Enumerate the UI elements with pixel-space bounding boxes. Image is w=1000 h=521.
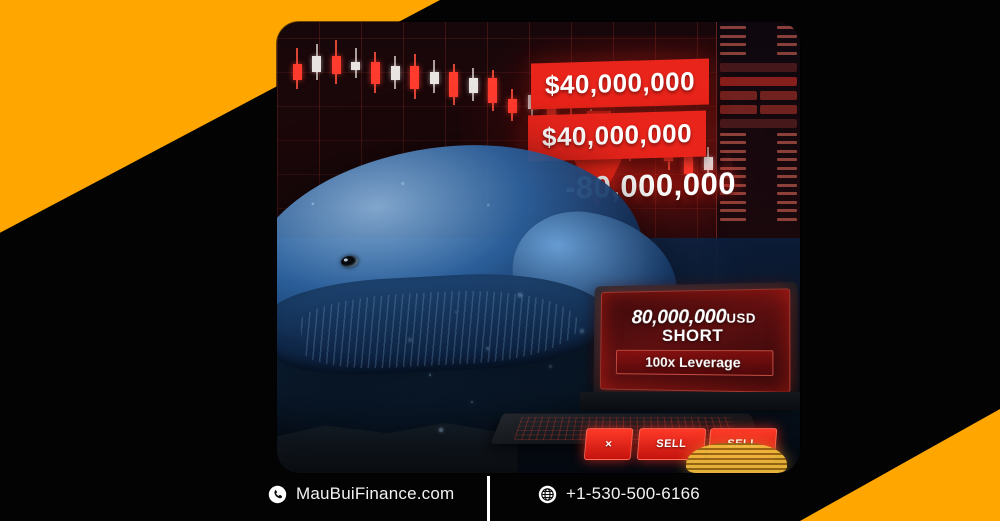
sea-floor-rocks <box>277 412 518 473</box>
leverage-badge: 100x Leverage <box>616 349 774 375</box>
callout-amount-1: $40,000,000 <box>531 58 709 109</box>
close-position-button[interactable]: ✕ <box>584 428 634 460</box>
terminal-screen: 80,000,000USD SHORT 100x Leverage <box>600 288 791 393</box>
hero-image-inner: $40,000,000 $40,000,000 -80,000,000 <box>277 22 800 473</box>
monitor-stand <box>580 392 800 411</box>
website-text: MauBuiFinance.com <box>296 484 454 504</box>
globe-icon <box>538 485 557 504</box>
trading-desk: 80,000,000USD SHORT 100x Leverage ✕ SELL… <box>580 284 800 473</box>
gold-coin-stack <box>686 443 787 473</box>
website-contact[interactable]: MauBuiFinance.com <box>268 484 454 504</box>
poster-canvas: $40,000,000 $40,000,000 -80,000,000 <box>0 0 1000 521</box>
contact-footer: MauBuiFinance.com +1-530-500-6166 <box>0 473 1000 521</box>
phone-contact[interactable]: +1-530-500-6166 <box>538 484 700 504</box>
footer-divider <box>487 476 490 521</box>
phone-text: +1-530-500-6166 <box>566 484 700 504</box>
position-size: 80,000,000USD <box>632 306 756 327</box>
hero-image-card: $40,000,000 $40,000,000 -80,000,000 <box>277 22 800 473</box>
position-side: SHORT <box>662 326 723 344</box>
position-size-value: 80,000,000 <box>632 305 727 328</box>
terminal-monitor: 80,000,000USD SHORT 100x Leverage <box>593 282 798 404</box>
phone-circle-icon <box>268 485 287 504</box>
position-size-unit: USD <box>726 310 756 325</box>
